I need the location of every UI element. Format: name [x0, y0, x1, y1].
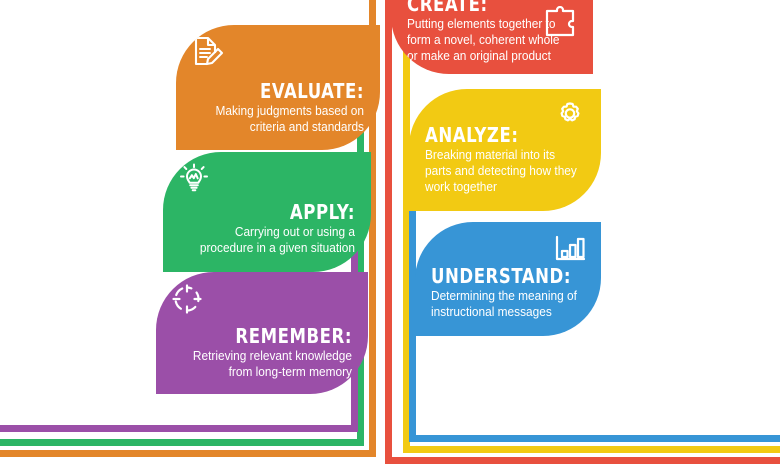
card-understand-description: Determining the meaning of instructional…	[431, 288, 577, 320]
card-analyze-title: ANALYZE:	[425, 125, 572, 145]
card-create[interactable]: CREATE: Putting elements together to for…	[391, 0, 593, 74]
card-create-description: Putting elements together to form a nove…	[407, 16, 569, 64]
document-pencil-icon	[190, 35, 224, 69]
infographic-canvas: CREATE: Putting elements together to for…	[0, 0, 780, 470]
card-analyze-description: Breaking material into its parts and det…	[425, 147, 577, 195]
target-crosshair-icon	[170, 282, 204, 316]
card-understand-body: UNDERSTAND: Determining the meaning of i…	[415, 266, 601, 320]
card-remember-body: REMEMBER: Retrieving relevant knowledge …	[156, 326, 368, 380]
card-evaluate-title: EVALUATE:	[206, 81, 364, 101]
card-understand-title: UNDERSTAND:	[431, 266, 573, 286]
card-create-body: CREATE: Putting elements together to for…	[391, 0, 593, 64]
card-remember-description: Retrieving relevant knowledge from long-…	[181, 348, 352, 380]
card-apply-title: APPLY:	[193, 202, 355, 222]
card-analyze[interactable]: ANALYZE: Breaking material into its part…	[409, 89, 601, 211]
card-understand[interactable]: UNDERSTAND: Determining the meaning of i…	[415, 222, 601, 336]
card-evaluate[interactable]: EVALUATE: Making judgments based on crit…	[176, 25, 380, 150]
card-apply[interactable]: APPLY: Carrying out or using a procedure…	[163, 152, 371, 272]
card-remember-title: REMEMBER:	[186, 326, 352, 346]
card-remember[interactable]: REMEMBER: Retrieving relevant knowledge …	[156, 272, 368, 394]
lightbulb-icon	[177, 162, 211, 196]
card-apply-description: Carrying out or using a procedure in a g…	[188, 224, 355, 256]
card-analyze-body: ANALYZE: Breaking material into its part…	[409, 125, 601, 195]
card-create-title: CREATE:	[407, 0, 563, 14]
card-apply-body: APPLY: Carrying out or using a procedure…	[163, 202, 371, 256]
card-evaluate-description: Making judgments based on criteria and s…	[201, 103, 364, 135]
bar-chart-icon	[553, 232, 587, 266]
card-evaluate-body: EVALUATE: Making judgments based on crit…	[176, 81, 380, 135]
